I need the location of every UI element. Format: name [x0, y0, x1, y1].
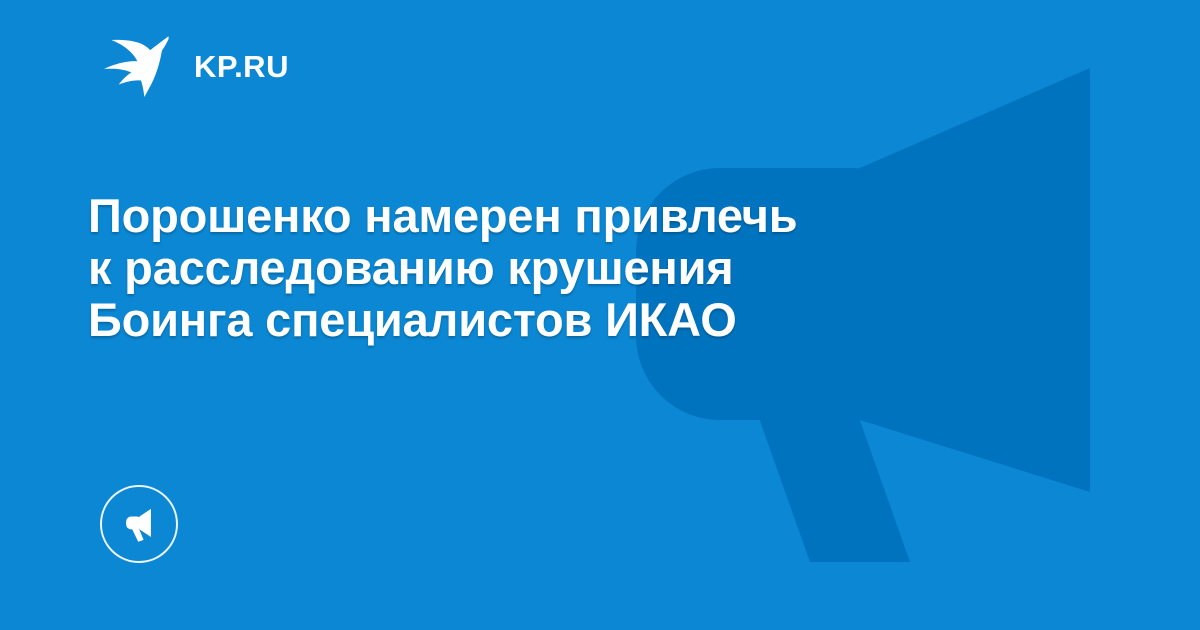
brand-name-label: KP.RU	[194, 51, 289, 82]
megaphone-icon	[118, 503, 160, 545]
brand-logo[interactable]: KP.RU	[104, 36, 289, 96]
page-title: Порошенко намерен привлечь к расследован…	[88, 190, 1098, 346]
news-share-card: KP.RU Порошенко намерен привлечь к рассл…	[0, 0, 1200, 630]
megaphone-badge[interactable]	[100, 485, 178, 563]
swallow-bird-icon	[104, 35, 172, 97]
